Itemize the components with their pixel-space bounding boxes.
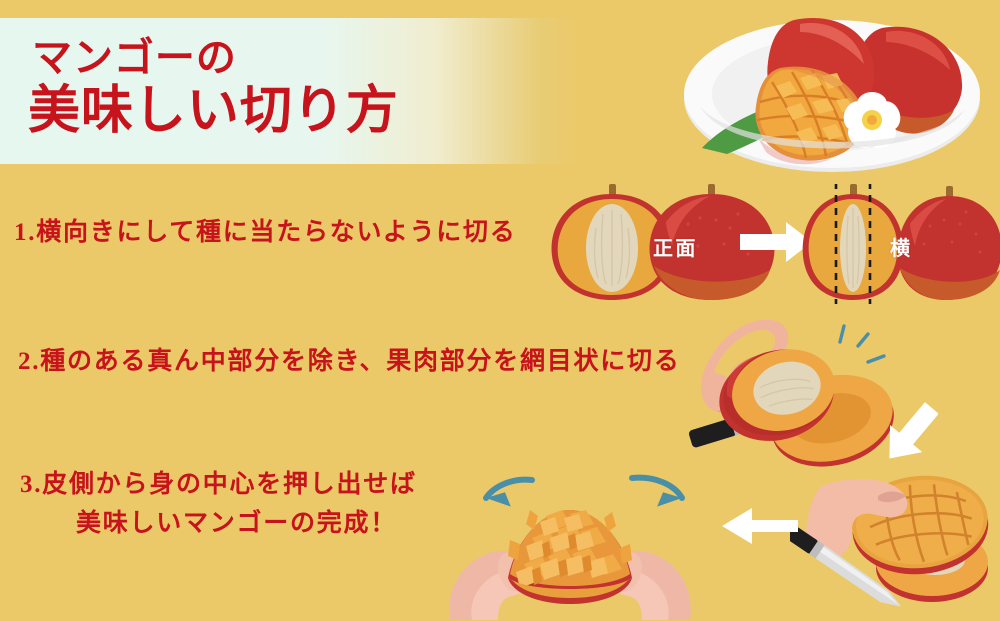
page-title: マンゴーの 美味しい切り方 [28, 38, 548, 138]
step-2-illustration-scoring [790, 452, 1000, 612]
hero-illustration-plate-with-mangoes [672, 0, 1000, 178]
label-side-view: 横 [890, 232, 912, 261]
step-1-text: 1.横向きにして種に当たらないように切る [14, 212, 517, 248]
step-3-text: 3.皮側から身の中心を押し出せば美味しいマンゴーの完成！ [20, 466, 417, 544]
step-3-line-1: 3.皮側から身の中心を押し出せば [20, 471, 417, 498]
title-line-2: 美味しい切り方 [28, 86, 548, 138]
step-3-illustration [420, 452, 720, 621]
step-3-line-2: 美味しいマンゴーの完成！ [20, 505, 417, 544]
step-2-illustration-slicing [678, 312, 938, 472]
title-line-1: マンゴーの [28, 38, 548, 78]
arrow-left-white-step2 [720, 506, 800, 546]
step-2-text: 2.種のある真ん中部分を除き、果肉部分を網目状に切る [18, 341, 681, 377]
title-banner: マンゴーの 美味しい切り方 [0, 18, 580, 164]
step-1-illustration [548, 184, 1000, 304]
label-front-view: 正面 [653, 232, 698, 261]
infographic-root: マンゴーの 美味しい切り方 1.横向きにして種に当たらないように切る [0, 0, 1000, 621]
